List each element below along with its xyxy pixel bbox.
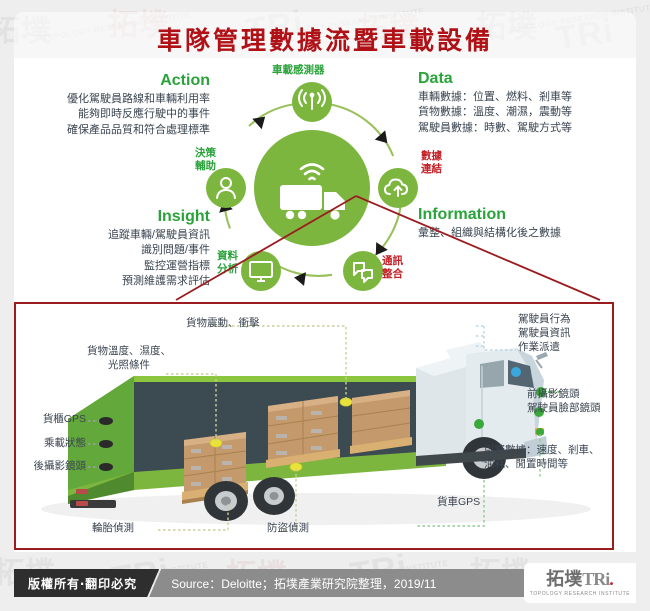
label-rear-camera: 後攝影鏡頭 xyxy=(10,459,86,473)
caption-comm-l1: 通訊 xyxy=(382,255,403,268)
label-cargo-temp-l1: 貨物溫度、濕度、 xyxy=(54,344,204,358)
caption-decision-l2: 輔助 xyxy=(172,160,216,173)
cycle-node-sensor xyxy=(292,82,332,122)
footer: 版權所有‧翻印必究 Source：Deloitte；拓墣產業研究院整理，2019… xyxy=(0,555,650,611)
page-title: 車隊管理數據流暨車載設備 xyxy=(157,21,493,57)
block-information: Information 彙整、組織與結構化後之數據 xyxy=(418,206,638,241)
label-driver-b2: 駕駛員資訊 xyxy=(518,326,571,340)
cargo-pallet-far2 xyxy=(350,390,412,454)
label-container-gps: 貨櫃GPS xyxy=(18,412,86,426)
tail-light xyxy=(76,489,88,494)
insight-line-3: 監控運營指標 xyxy=(28,259,210,275)
block-action: Action 優化駕駛員路線和車輛利用率 能夠即時反應行駛中的事件 確保產品品質… xyxy=(18,72,210,138)
label-cargo-temp-l2: 光照條件 xyxy=(54,358,204,372)
cycle-node-decision xyxy=(206,168,246,208)
caption-datalink-l2: 連結 xyxy=(421,163,442,176)
block-insight: Insight 追蹤車輛/駕駛員資訊 識別問題/事件 監控運營指標 預測維護需求… xyxy=(28,208,210,290)
cargo-pallet-far xyxy=(266,396,340,468)
windshield-sensor-dot xyxy=(511,367,521,377)
label-driver-b3: 作業派遣 xyxy=(518,340,571,354)
information-line-1: 彙整、組織與結構化後之數據 xyxy=(418,226,638,242)
logo-subtitle: TOPOLOGY RESEARCH INSTITUTE xyxy=(530,591,630,597)
action-line-3: 確保產品品質和符合處理標準 xyxy=(18,123,210,139)
caption-comm-l2: 整合 xyxy=(382,268,403,281)
label-cargo-shock: 貨物震動、衝擊 xyxy=(186,316,260,330)
cycle-node-analysis xyxy=(241,251,281,291)
label-front-camera: 前攝影鏡頭 駕駛員臉部鏡頭 xyxy=(527,387,601,415)
action-line-1: 優化駕駛員路線和車輛利用率 xyxy=(18,92,210,108)
copyright-label: 版權所有‧翻印必究 xyxy=(14,569,159,597)
label-load-status: 乘載狀態 xyxy=(18,436,86,450)
logo-cn: 拓墣 xyxy=(546,569,582,589)
tri-logo: 拓墣TRi. TOPOLOGY RESEARCH INSTITUTE xyxy=(524,563,636,603)
insight-line-2: 識別問題/事件 xyxy=(28,243,210,259)
caption-datalink: 數據 連結 xyxy=(421,150,442,177)
source-label: Source：Deloitte；拓墣產業研究院整理，2019/11 xyxy=(149,569,549,597)
caption-sensor: 車載感測器 xyxy=(272,64,325,77)
label-front-cam-1: 前攝影鏡頭 xyxy=(527,387,601,401)
logo-dot: . xyxy=(609,569,614,589)
data-line-2: 貨物數據：溫度、潮濕，震動等 xyxy=(418,105,644,121)
insight-line-4: 預測維護需求評估 xyxy=(28,274,210,290)
label-engine-l1: 引擎數據：速度、剎車、 xyxy=(484,443,600,457)
caption-analysis-l2: 分析 xyxy=(194,263,238,276)
caption-analysis-l1: 資料 xyxy=(194,250,238,263)
label-front-cam-2: 駕駛員臉部鏡頭 xyxy=(527,401,601,415)
label-tire-detect: 輪胎偵測 xyxy=(92,521,134,535)
caption-communication: 通訊 整合 xyxy=(382,255,403,282)
label-antitheft-detect: 防盜偵測 xyxy=(267,521,309,535)
action-heading: Action xyxy=(18,72,210,90)
caption-analysis: 資料 分析 xyxy=(194,250,238,277)
cycle-node-communication xyxy=(343,251,383,291)
label-truck-gps: 貨車GPS xyxy=(437,495,480,509)
data-line-1: 車輛數據：位置、燃料、剎車等 xyxy=(418,90,644,106)
caption-decision-l1: 決策 xyxy=(172,147,216,160)
insight-heading: Insight xyxy=(28,208,210,226)
label-engine-data: 引擎數據：速度、剎車、 油耗、閒置時間等 xyxy=(484,443,600,471)
data-heading: Data xyxy=(418,70,644,88)
label-cargo-temp: 貨物溫度、濕度、 光照條件 xyxy=(54,344,204,372)
insight-line-1: 追蹤車輛/駕駛員資訊 xyxy=(28,228,210,244)
logo-en: TRi xyxy=(582,569,609,589)
information-heading: Information xyxy=(418,206,638,224)
title-band: 車隊管理數據流暨車載設備 xyxy=(14,12,636,66)
label-engine-l2: 油耗、閒置時間等 xyxy=(484,457,600,471)
caption-decision: 決策 輔助 xyxy=(172,147,216,174)
label-driver-b1: 駕駛員行為 xyxy=(518,312,571,326)
cycle-node-datalink xyxy=(378,168,418,208)
action-line-2: 能夠即時反應行駛中的事件 xyxy=(18,107,210,123)
block-data: Data 車輛數據：位置、燃料、剎車等 貨物數據：溫度、潮濕，震動等 駕駛員數據… xyxy=(418,70,644,136)
logo-main: 拓墣TRi. xyxy=(546,570,614,588)
label-driver-behavior: 駕駛員行為 駕駛員資訊 作業派遣 xyxy=(518,312,571,355)
footer-bar: 版權所有‧翻印必究 Source：Deloitte；拓墣產業研究院整理，2019… xyxy=(14,569,549,597)
caption-datalink-l1: 數據 xyxy=(421,150,442,163)
data-line-3: 駕駛員數據：時數、駕駛方式等 xyxy=(418,121,644,137)
